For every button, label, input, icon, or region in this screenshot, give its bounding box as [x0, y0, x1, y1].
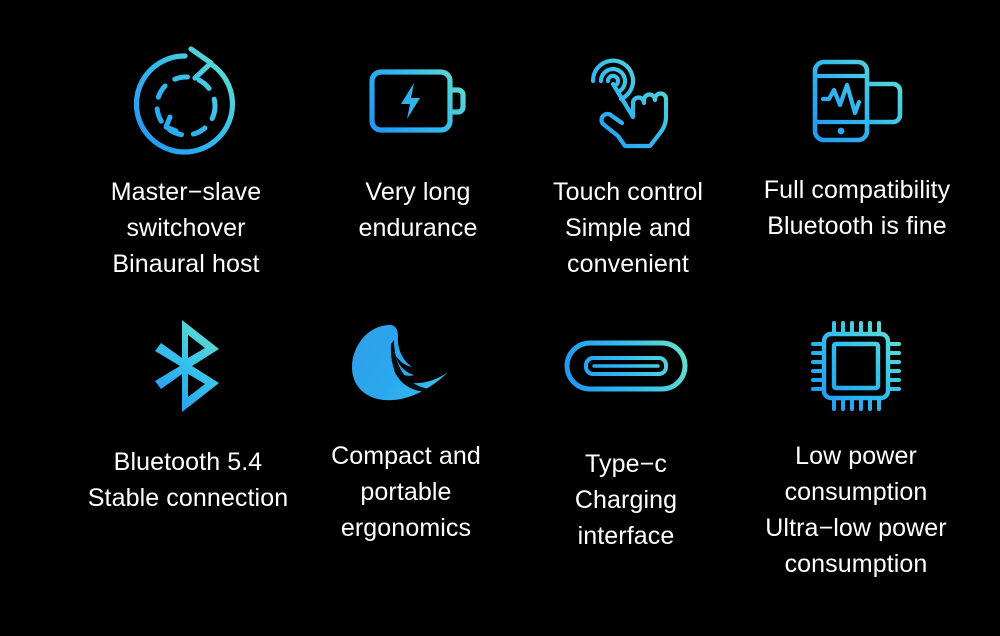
caption-line: Ultra−low power — [765, 510, 946, 546]
feature-caption: Bluetooth 5.4 Stable connection — [88, 444, 288, 516]
caption-line: Stable connection — [88, 480, 288, 516]
feature-type-c-charging: Type−c Charging interface — [528, 318, 724, 554]
phone-compatibility-icon — [809, 48, 905, 154]
feature-grid: Master−slave switchover Binaural host — [0, 0, 1000, 636]
caption-line: Very long — [358, 174, 477, 210]
feature-very-long-endurance: Very long endurance — [320, 48, 516, 246]
caption-line: interface — [575, 518, 677, 554]
feature-caption: Compact and portable ergonomics — [331, 438, 481, 546]
feature-row-bottom: Bluetooth 5.4 Stable connection — [0, 318, 1000, 582]
feature-caption: Full compatibility Bluetooth is fine — [764, 172, 951, 244]
caption-line: convenient — [553, 246, 703, 282]
caption-line: Touch control — [553, 174, 703, 210]
caption-line: switchover — [111, 210, 262, 246]
caption-line: Master−slave — [111, 174, 262, 210]
feature-compact-portable: Compact and portable ergonomics — [308, 318, 504, 546]
usb-type-c-icon — [564, 318, 688, 414]
feather-icon — [344, 318, 468, 414]
caption-line: Binaural host — [111, 246, 262, 282]
feature-master-slave-switchover: Master−slave switchover Binaural host — [52, 48, 320, 282]
caption-line: Low power — [765, 438, 946, 474]
battery-charging-icon — [368, 48, 468, 154]
caption-line: Full compatibility — [764, 172, 951, 208]
refresh-switch-icon — [128, 48, 244, 160]
feature-bluetooth-version: Bluetooth 5.4 Stable connection — [68, 318, 308, 516]
caption-line: Charging — [575, 482, 677, 518]
caption-line: consumption — [765, 546, 946, 582]
feature-row-top: Master−slave switchover Binaural host — [0, 48, 1000, 282]
caption-line: Simple and — [553, 210, 703, 246]
caption-line: portable — [331, 474, 481, 510]
caption-line: Type−c — [575, 446, 677, 482]
cpu-chip-icon — [810, 318, 902, 414]
feature-caption: Master−slave switchover Binaural host — [111, 174, 262, 282]
feature-caption: Type−c Charging interface — [575, 446, 677, 554]
caption-line: ergonomics — [331, 510, 481, 546]
feature-caption: Very long endurance — [358, 174, 477, 246]
caption-line: Bluetooth 5.4 — [88, 444, 288, 480]
caption-line: Compact and — [331, 438, 481, 474]
feature-caption: Touch control Simple and convenient — [553, 174, 703, 282]
feature-caption: Low power consumption Ultra−low power co… — [765, 438, 946, 582]
bluetooth-icon — [149, 318, 227, 414]
feature-touch-control: Touch control Simple and convenient — [530, 48, 726, 282]
caption-line: Bluetooth is fine — [764, 208, 951, 244]
touch-hand-icon — [578, 48, 678, 160]
caption-line: endurance — [358, 210, 477, 246]
caption-line: consumption — [765, 474, 946, 510]
feature-full-compatibility: Full compatibility Bluetooth is fine — [742, 48, 972, 244]
feature-low-power-consumption: Low power consumption Ultra−low power co… — [738, 318, 974, 582]
